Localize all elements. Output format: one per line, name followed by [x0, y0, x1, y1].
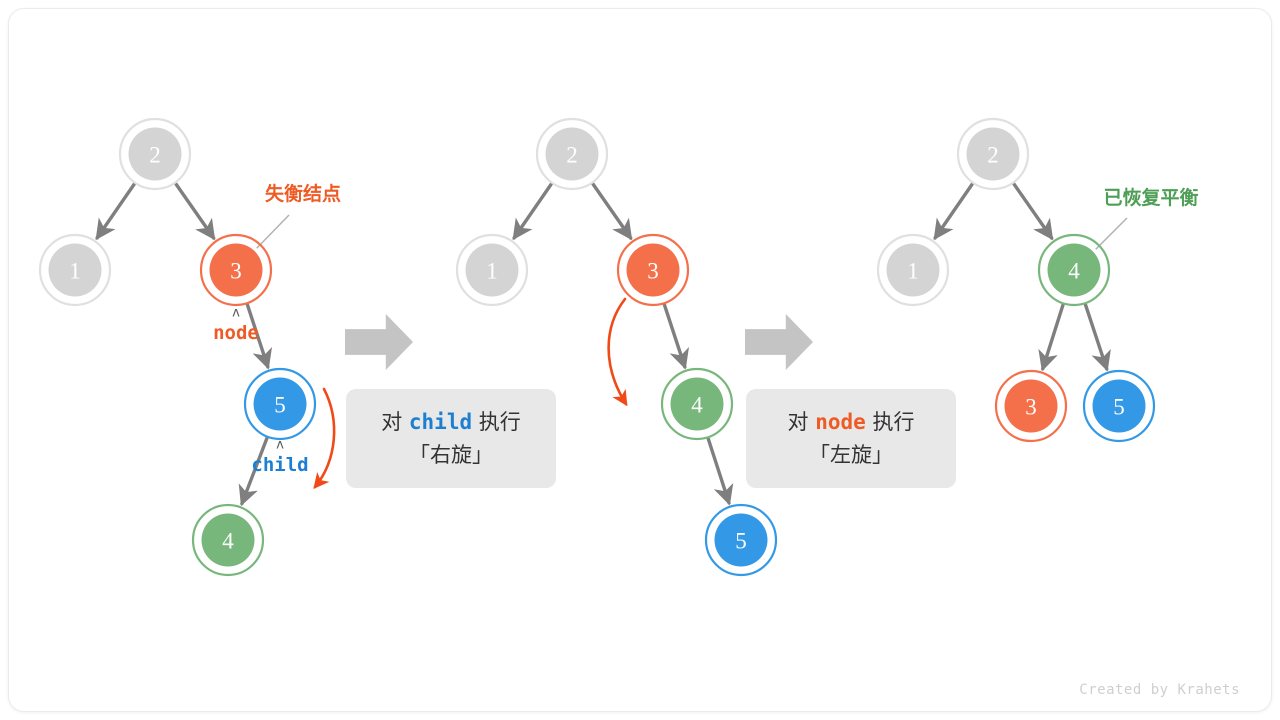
node-var: node	[213, 322, 259, 344]
diagram-root: 213542134521435 失衡结点ʌnodeʌchild已恢复平衡 对 c…	[0, 0, 1280, 720]
operation-line-primary: 对 node 执行	[788, 406, 915, 439]
operation-prefix: 对	[381, 410, 409, 434]
tree-edge	[593, 184, 631, 239]
tree-node-label: 1	[69, 259, 81, 284]
tree-node[interactable]: 2	[537, 119, 607, 189]
tree-node[interactable]: 3	[618, 235, 688, 305]
block-arrow-1	[345, 314, 413, 370]
tree-node-label: 3	[230, 259, 242, 284]
tree-node[interactable]: 1	[878, 235, 948, 305]
operation-prefix: 对	[788, 410, 816, 434]
tree-edge	[1085, 304, 1106, 369]
tree-node[interactable]: 4	[1039, 235, 1109, 305]
operation-line-primary: 对 child 执行	[381, 406, 521, 439]
tree-edge	[514, 184, 551, 238]
tree-node[interactable]: 2	[120, 119, 190, 189]
operation-variable: child	[409, 410, 472, 434]
operation-line-secondary: 「右旋」	[409, 439, 493, 472]
balanced-label: 已恢复平衡	[1103, 186, 1198, 209]
tree-node[interactable]: 4	[193, 505, 263, 575]
tree-edge	[1014, 184, 1052, 239]
tree-node[interactable]: 2	[958, 119, 1028, 189]
block-arrows-layer	[345, 314, 813, 370]
child-var: child	[251, 454, 308, 476]
operation-suffix: 执行	[866, 410, 915, 434]
tree-node-label: 5	[1113, 395, 1125, 420]
tree-node[interactable]: 5	[245, 369, 315, 439]
tree-node[interactable]: 1	[40, 235, 110, 305]
operation-line-secondary: 「左旋」	[809, 439, 893, 472]
tree-edge	[97, 184, 134, 238]
tree-edge	[935, 184, 972, 238]
tree-node-label: 4	[222, 529, 234, 554]
tree-node-label: 1	[907, 259, 919, 284]
tree-node-label: 5	[735, 529, 747, 554]
caret-icon: ʌ	[232, 306, 240, 321]
tree-edge	[708, 438, 729, 503]
leader-line	[1093, 218, 1127, 252]
operation-variable: node	[815, 410, 866, 434]
unbalanced-label: 失衡结点	[265, 182, 341, 205]
leader-lines-layer	[255, 215, 1127, 252]
tree-node[interactable]: 4	[662, 369, 732, 439]
tree-node-label: 2	[987, 143, 999, 168]
tree-node-label: 4	[1068, 259, 1080, 284]
tree-node-label: 1	[486, 259, 498, 284]
operation-suffix: 执行	[472, 410, 521, 434]
tree-node-label: 4	[691, 393, 703, 418]
op-box-right-rotate: 对 child 执行「右旋」	[346, 389, 556, 488]
tree-edge	[664, 304, 685, 367]
op-box-left-rotate: 对 node 执行「左旋」	[746, 389, 956, 488]
left-rotation-arc-icon	[609, 299, 626, 404]
block-arrow-2	[745, 314, 813, 370]
tree-node-label: 3	[647, 259, 659, 284]
tree-node[interactable]: 3	[201, 235, 271, 305]
tree-node-label: 5	[274, 393, 286, 418]
tree-node-label: 2	[149, 143, 161, 168]
tree-node[interactable]: 5	[706, 505, 776, 575]
caret-icon: ʌ	[276, 438, 284, 453]
tree-node-label: 2	[566, 143, 578, 168]
tree-edge	[1043, 304, 1063, 368]
tree-node[interactable]: 1	[457, 235, 527, 305]
tree-node[interactable]: 3	[996, 371, 1066, 441]
credit-text: Created by Krahets	[1079, 682, 1240, 698]
tree-node[interactable]: 5	[1084, 371, 1154, 441]
diagram-canvas: 213542134521435 失衡结点ʌnodeʌchild已恢复平衡	[0, 0, 1280, 720]
tree-node-label: 3	[1025, 395, 1037, 420]
tree-edge	[176, 184, 214, 239]
right-rotation-arc-icon	[315, 389, 334, 487]
